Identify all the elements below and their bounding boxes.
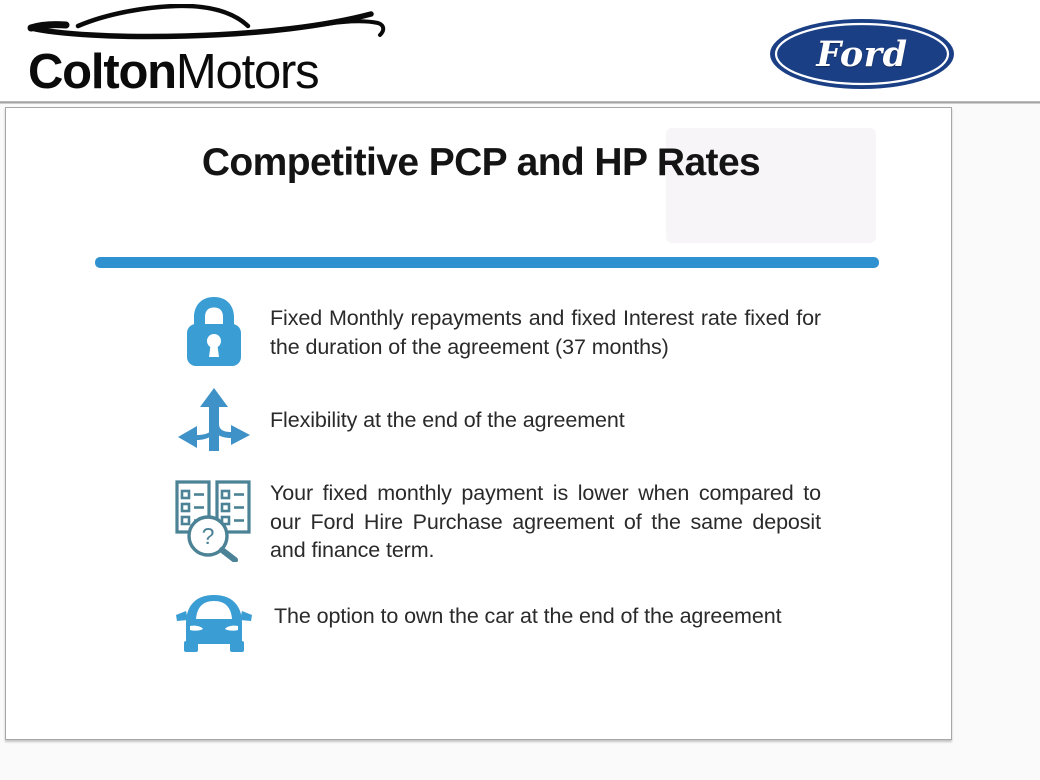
feature-text-fixed-repayments: Fixed Monthly repayments and fixed Inter… (270, 291, 821, 361)
title-accent-rule (95, 257, 879, 268)
feature-row-flexibility: Flexibility at the end of the agreement (171, 386, 891, 456)
brand-name-secondary: Motors (176, 45, 319, 99)
padlock-icon (171, 291, 257, 369)
page-header: ColtonMotors Ford (0, 0, 1040, 103)
header-divider (0, 101, 1040, 104)
feature-text-lower-payment: Your fixed monthly payment is lower when… (270, 470, 821, 565)
three-way-arrow-icon (171, 386, 257, 456)
document-compare-search-icon: ? (171, 470, 257, 564)
ford-oval-logo: Ford (769, 18, 955, 90)
brand-name-primary: Colton (28, 45, 176, 99)
feature-row-fixed-repayments: Fixed Monthly repayments and fixed Inter… (171, 291, 891, 369)
page-title: Competitive PCP and HP Rates (66, 135, 896, 190)
svg-text:?: ? (202, 523, 215, 549)
feature-text-flexibility: Flexibility at the end of the agreement (270, 386, 821, 435)
feature-row-ownership-option: The option to own the car at the end of … (171, 586, 891, 662)
brand-wordmark: ColtonMotors (28, 44, 318, 100)
feature-row-lower-payment: ? Your fixed monthly payment is lower wh… (171, 470, 891, 565)
ford-oval-shape (769, 18, 955, 90)
feature-text-ownership-option: The option to own the car at the end of … (274, 586, 825, 631)
colton-motors-logo: ColtonMotors (26, 4, 386, 100)
car-front-icon (171, 586, 257, 662)
content-panel: Competitive PCP and HP Rates Fixed Month… (5, 107, 952, 740)
